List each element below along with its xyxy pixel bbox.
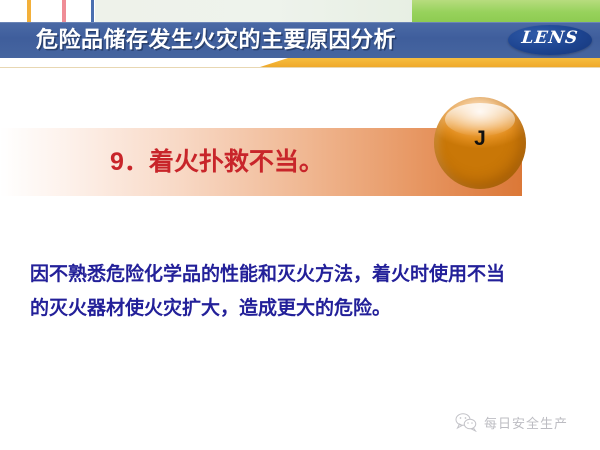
slide-canvas: 危险品储存发生火灾的主要原因分析 LENS 9．着火扑救不当。 J 因不熟悉危险… <box>0 0 600 450</box>
pale-band <box>95 0 415 22</box>
tick-mark-orange <box>27 0 31 22</box>
lens-logo-text: LENS <box>507 28 593 48</box>
accent-bar-wrapper <box>0 58 600 67</box>
lens-logo: LENS <box>508 25 592 55</box>
tick-mark-blue <box>91 0 94 22</box>
top-decoration-strip <box>0 0 600 22</box>
wechat-icon <box>455 412 477 432</box>
watermark-text: 每日安全生产 <box>484 413 568 432</box>
sphere-marker-label: J <box>434 97 526 189</box>
accent-bar <box>260 58 600 67</box>
green-band <box>412 0 600 22</box>
tick-mark-pink <box>62 0 66 22</box>
page-title: 危险品储存发生火灾的主要原因分析 <box>36 22 396 58</box>
accent-rule <box>0 67 600 68</box>
watermark: 每日安全生产 <box>455 412 568 432</box>
body-paragraph: 因不熟悉危险化学品的性能和灭火方法，着火时使用不当的灭火器材使火灾扩大，造成更大… <box>30 258 522 326</box>
section-heading: 9．着火扑救不当。 <box>110 128 324 196</box>
